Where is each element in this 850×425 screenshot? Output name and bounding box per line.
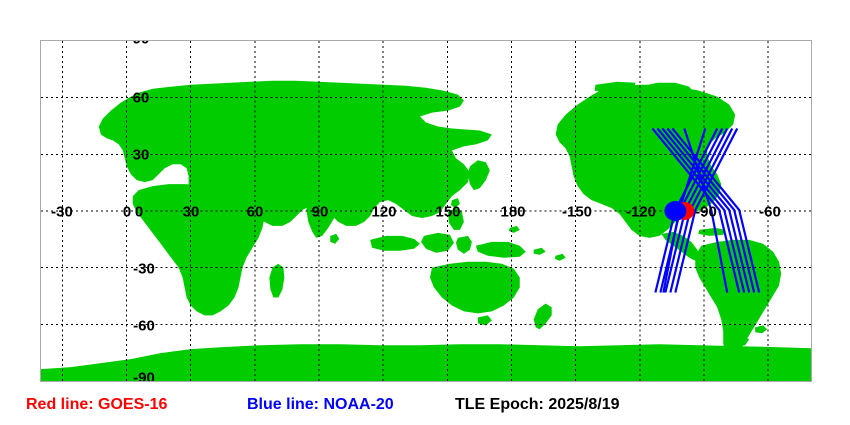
- landmass-group: [41, 81, 811, 381]
- land-new-zealand: [534, 303, 552, 329]
- land-japan: [468, 160, 490, 190]
- land-taiwan: [451, 198, 460, 208]
- land-madagascar: [269, 264, 284, 298]
- land-north-america: [556, 85, 736, 238]
- land-borneo: [421, 233, 454, 253]
- land-new-guinea: [476, 242, 526, 258]
- land-africa: [133, 184, 265, 315]
- legend-red-line: Red line: GOES-16: [26, 397, 167, 413]
- land-antarctica: [41, 344, 811, 381]
- legend-tle-epoch: TLE Epoch: 2025/8/19: [455, 397, 620, 413]
- land-caribbean: [698, 228, 725, 236]
- legend-caption: Red line: GOES-16 Blue line: NOAA-20 TLE…: [0, 394, 850, 422]
- noaa20-marker: [664, 201, 686, 221]
- satellite-ground-track-map: 90 60 30 0 -30 -60 -90 -30 0 30 60 90 12…: [0, 0, 850, 425]
- land-arctic-islands: [595, 82, 636, 93]
- land-india: [306, 198, 336, 238]
- land-australia: [430, 262, 520, 314]
- world-map-svg: [41, 41, 811, 381]
- land-sri-lanka: [330, 234, 339, 244]
- land-indonesia: [370, 236, 420, 251]
- satellite-markers: [664, 201, 694, 221]
- land-falklands: [755, 325, 767, 333]
- legend-blue-line: Blue line: NOAA-20: [247, 397, 394, 413]
- land-sulawesi: [456, 236, 472, 254]
- map-plot-area[interactable]: 90 60 30 0 -30 -60 -90 -30 0 30 60 90 12…: [40, 40, 812, 382]
